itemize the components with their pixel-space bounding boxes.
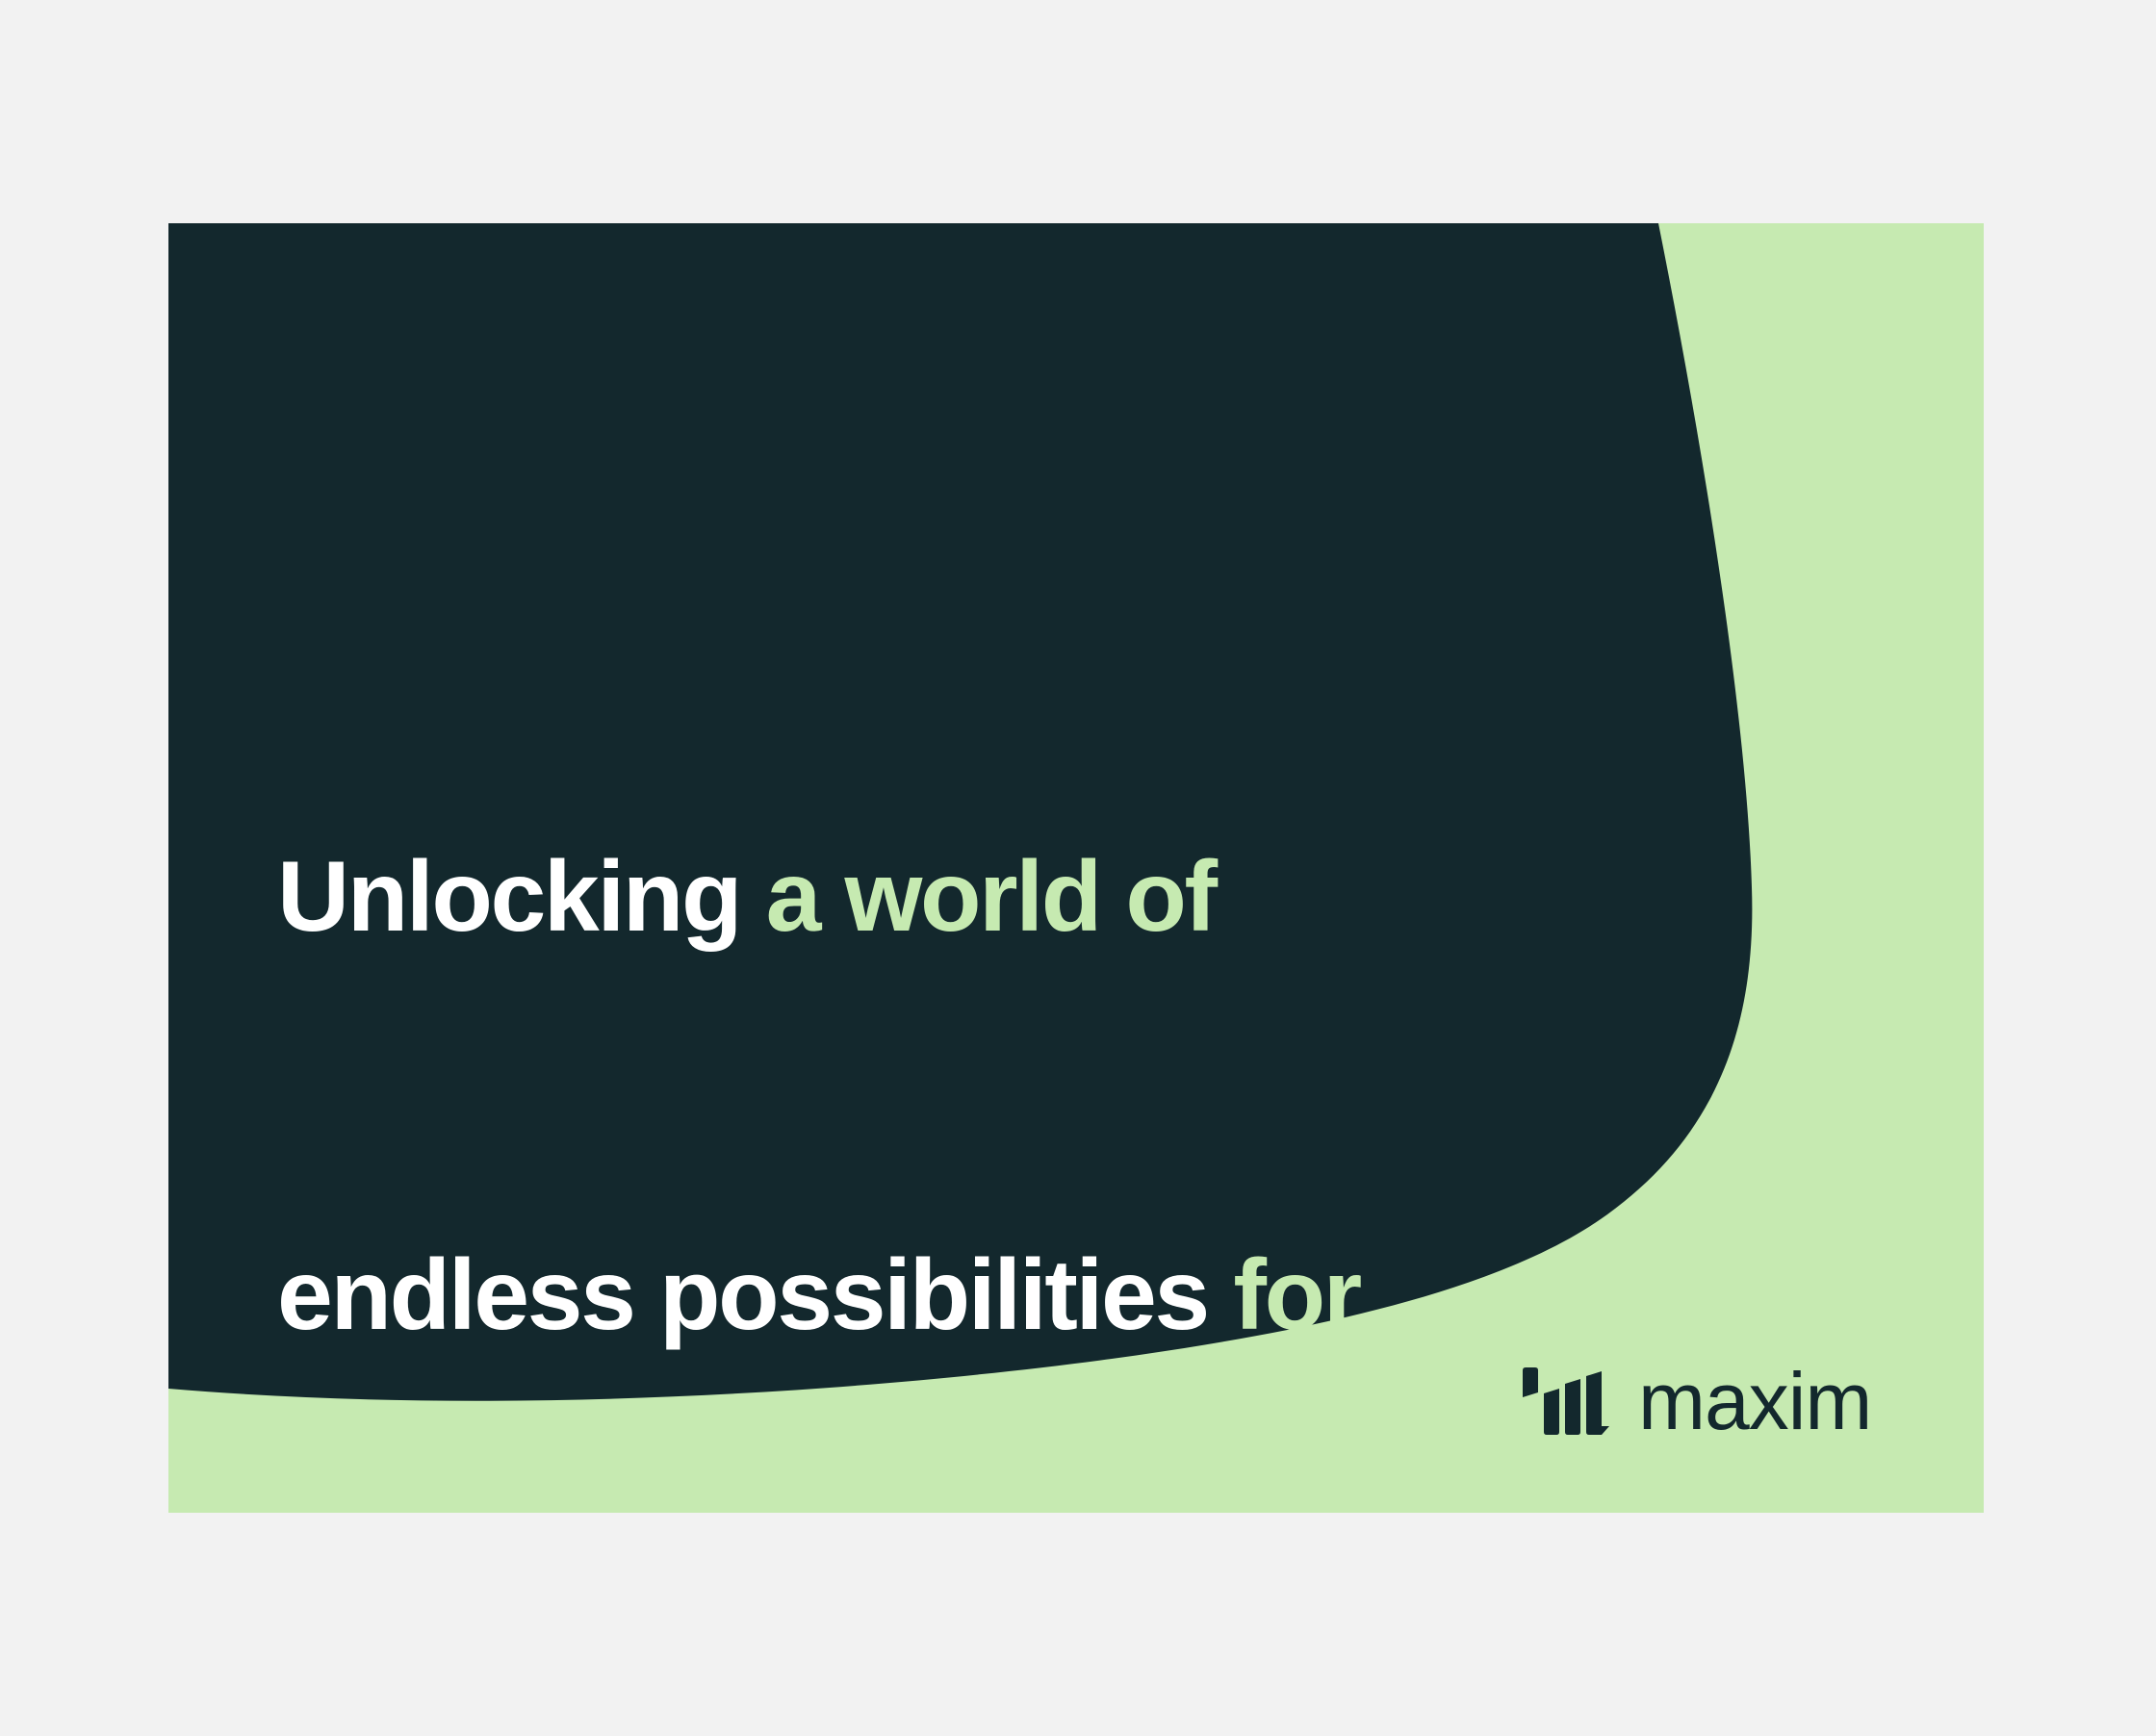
headline-line-1-green: a world of bbox=[766, 841, 1216, 953]
maxim-wordmark: maxim bbox=[1638, 1361, 1871, 1442]
headline-line-2: endless possibilities for bbox=[277, 1229, 1779, 1362]
maxim-logo: maxim bbox=[1521, 1357, 1871, 1445]
maxim-bars-icon bbox=[1521, 1366, 1613, 1436]
headline-line-2-green: for bbox=[1233, 1239, 1359, 1351]
headline-line-2-white: endless possibilities bbox=[277, 1239, 1233, 1351]
page-canvas: Unlocking a world of endless possibiliti… bbox=[0, 0, 2156, 1736]
headline-line-1: Unlocking a world of bbox=[277, 830, 1779, 963]
headline-line-1-white: Unlocking bbox=[277, 841, 766, 953]
maxim-promo-banner: Unlocking a world of endless possibiliti… bbox=[168, 223, 1984, 1513]
